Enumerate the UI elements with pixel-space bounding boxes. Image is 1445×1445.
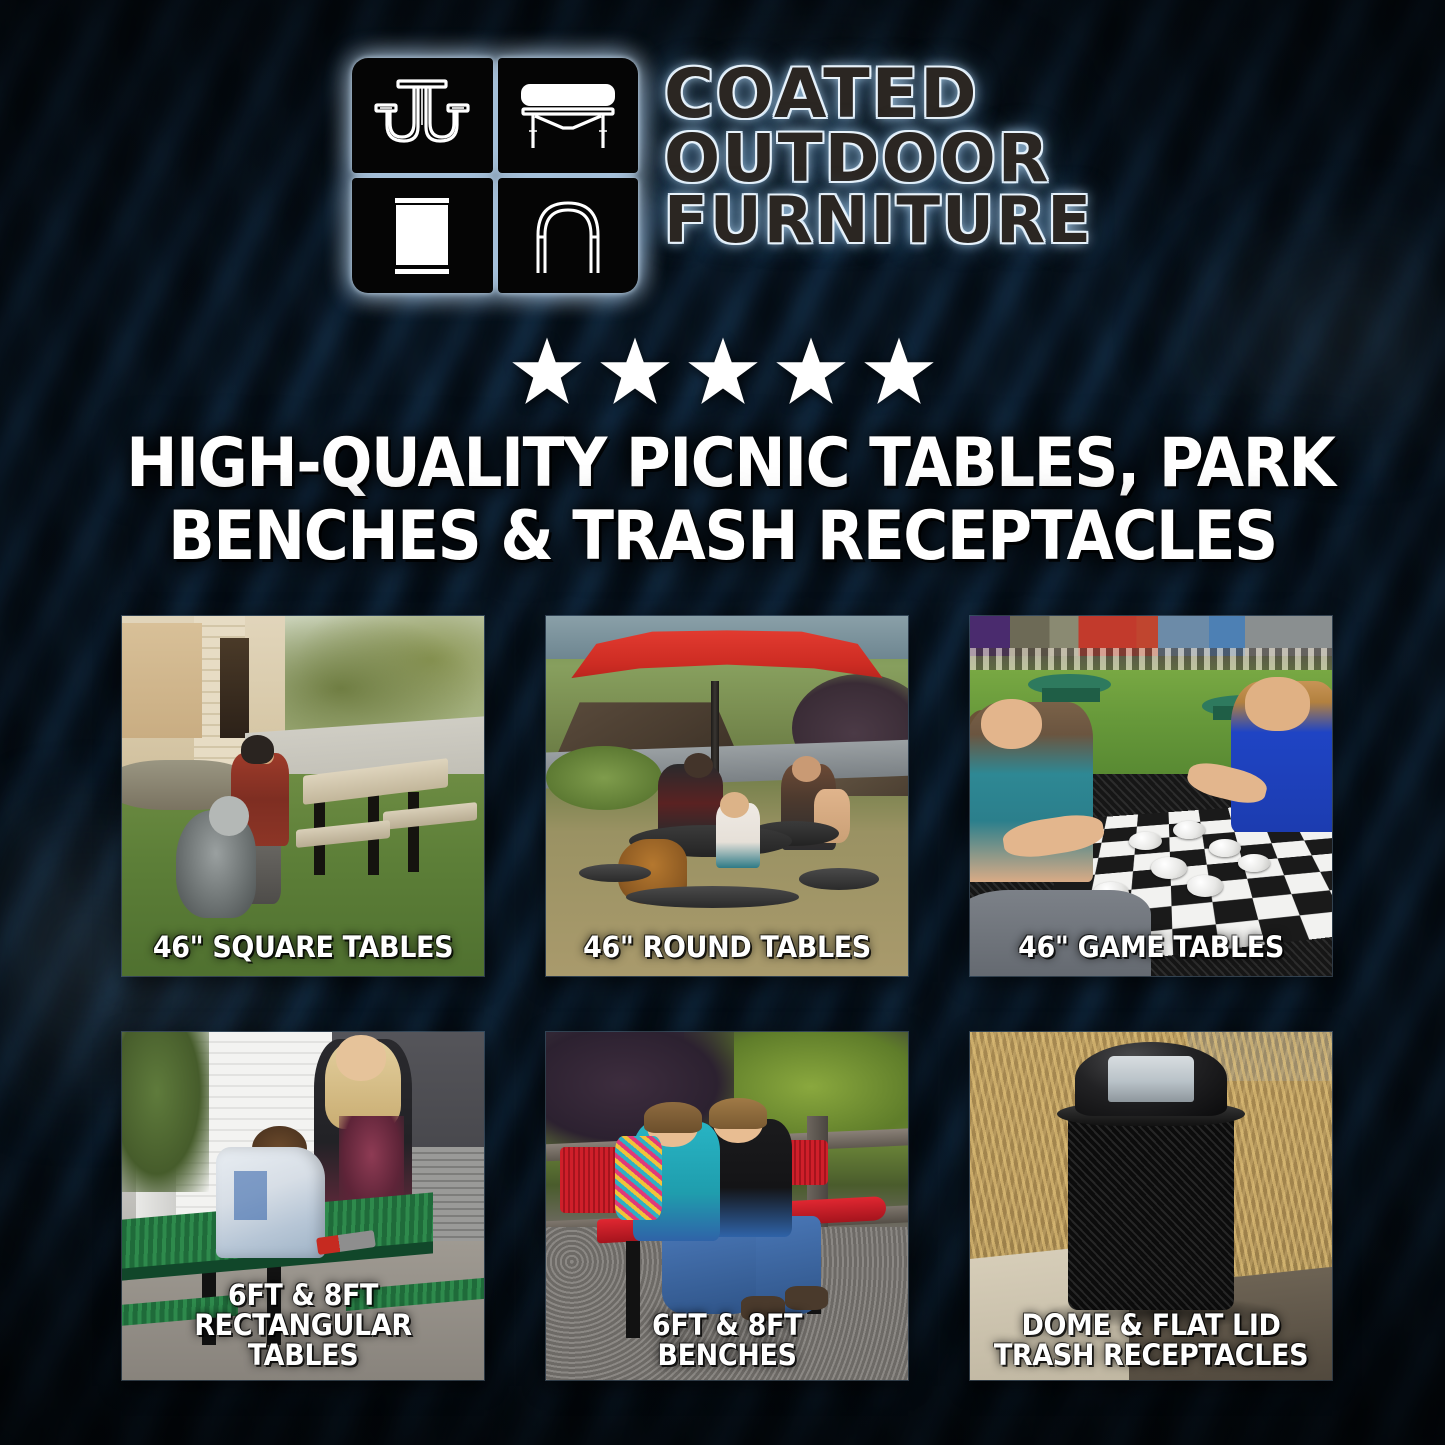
poster-content: COATED OUTDOOR FURNITURE HIGH-QUALITY PI… bbox=[0, 0, 1445, 1445]
headline-line-2: BENCHES & TRASH RECEPTACLES bbox=[126, 501, 1319, 574]
tile-caption: 46" GAME TABLES bbox=[988, 932, 1314, 962]
tile-caption: 6FT & 8FT BENCHES bbox=[564, 1310, 890, 1370]
product-tile-square-tables[interactable]: 46" SQUARE TABLES bbox=[122, 616, 484, 976]
bench-side-icon bbox=[498, 58, 639, 173]
logo-wordmark: COATED OUTDOOR FURNITURE bbox=[664, 58, 1093, 252]
product-tile-rectangular-tables[interactable]: 6FT & 8FT RECTANGULAR TABLES bbox=[122, 1032, 484, 1380]
tile-caption: 6FT & 8FT RECTANGULAR TABLES bbox=[140, 1280, 466, 1370]
round-tables-photo bbox=[546, 616, 908, 976]
star-icon-5 bbox=[862, 336, 936, 407]
dome-lid-icon bbox=[498, 178, 639, 293]
flat-lid-trash-can-icon bbox=[352, 178, 493, 293]
logo-icon-badge bbox=[352, 58, 638, 293]
logo-line-1: COATED bbox=[664, 62, 979, 127]
game-tables-photo bbox=[970, 616, 1332, 976]
product-grid: 46" SQUARE TABLES 46" ROUND TAB bbox=[122, 616, 1332, 1380]
picnic-table-front-icon bbox=[352, 58, 493, 173]
logo-line-2: OUTDOOR bbox=[664, 127, 1051, 190]
logo-line-3: FURNITURE bbox=[664, 191, 1093, 252]
star-icon-3 bbox=[686, 336, 760, 407]
headline-line-1: HIGH-QUALITY PICNIC TABLES, PARK bbox=[126, 428, 1319, 501]
product-tile-game-tables[interactable]: 46" GAME TABLES bbox=[970, 616, 1332, 976]
product-tile-trash-receptacles[interactable]: DOME & FLAT LID TRASH RECEPTACLES bbox=[970, 1032, 1332, 1380]
page-title: HIGH-QUALITY PICNIC TABLES, PARK BENCHES… bbox=[126, 428, 1319, 574]
star-icon-1 bbox=[510, 336, 584, 407]
star-icon-2 bbox=[598, 336, 672, 407]
brand-logo[interactable]: COATED OUTDOOR FURNITURE bbox=[0, 58, 1445, 293]
square-tables-photo bbox=[122, 616, 484, 976]
tile-caption: 46" ROUND TABLES bbox=[564, 932, 890, 962]
product-tile-round-tables[interactable]: 46" ROUND TABLES bbox=[546, 616, 908, 976]
star-icon-4 bbox=[774, 336, 848, 407]
tile-caption: 46" SQUARE TABLES bbox=[140, 932, 466, 962]
tile-caption: DOME & FLAT LID TRASH RECEPTACLES bbox=[988, 1310, 1314, 1370]
five-star-rating bbox=[0, 336, 1445, 407]
marketing-poster: COATED OUTDOOR FURNITURE HIGH-QUALITY PI… bbox=[0, 0, 1445, 1445]
product-tile-benches[interactable]: 6FT & 8FT BENCHES bbox=[546, 1032, 908, 1380]
